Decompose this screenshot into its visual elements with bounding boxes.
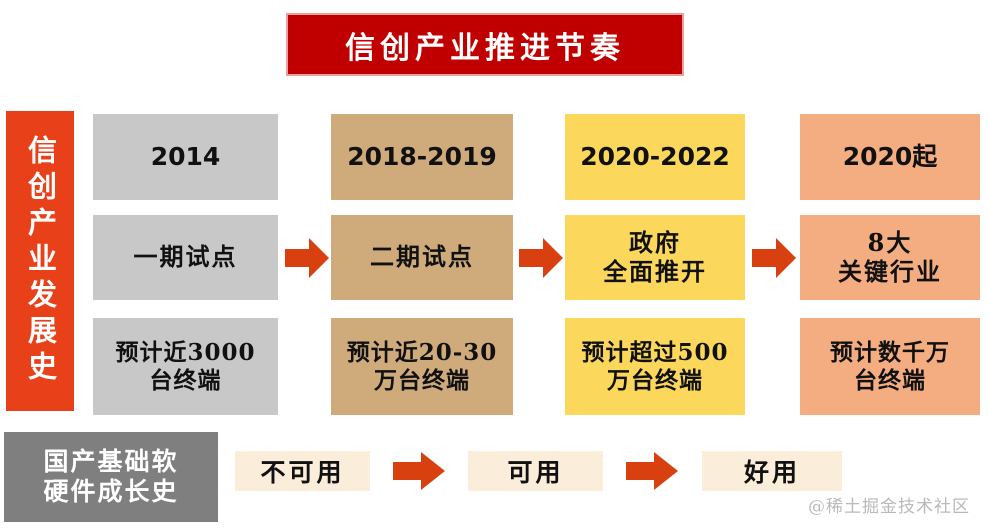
timeline-card-scale-2: 预计近20-30 万台终端 xyxy=(331,318,513,415)
timeline-card-scale-3: 预计超过500 万台终端 xyxy=(565,318,745,415)
timeline-card-year-2: 2018-2019 xyxy=(331,114,513,200)
timeline-card-year-1: 2014 xyxy=(93,114,278,200)
phase-label: 一期试点 xyxy=(134,243,238,271)
domestic-software-history-label: 国产基础软 硬件成长史 xyxy=(4,432,218,522)
year-label: 2020-2022 xyxy=(580,142,730,172)
right-arrow-icon xyxy=(752,237,796,279)
phase-label: 政府 全面推开 xyxy=(603,229,707,286)
watermark: @稀土掘金技术社区 xyxy=(808,492,970,517)
right-arrow-icon xyxy=(626,451,678,491)
scale-label: 预计数千万 台终端 xyxy=(830,339,950,393)
bottom-label-text: 国产基础软 硬件成长史 xyxy=(43,447,178,508)
page-title: 信创产业推进节奏 xyxy=(345,23,625,67)
maturity-stage-label: 好用 xyxy=(744,453,800,489)
timeline-card-scale-4: 预计数千万 台终端 xyxy=(800,318,980,415)
maturity-stage-usable: 可用 xyxy=(468,451,603,491)
year-label: 2014 xyxy=(151,142,221,172)
maturity-stage-unusable: 不可用 xyxy=(235,451,370,491)
scale-label: 预计近20-30 万台终端 xyxy=(347,339,498,393)
industry-history-side-label: 信创产业发展史 xyxy=(6,111,74,411)
scale-label: 预计超过500 万台终端 xyxy=(581,339,728,393)
timeline-card-phase-4: 8大 关键行业 xyxy=(800,215,980,300)
timeline-card-scale-1: 预计近3000 台终端 xyxy=(93,318,278,415)
timeline-card-phase-1: 一期试点 xyxy=(93,215,278,300)
page-title-banner: 信创产业推进节奏 xyxy=(286,13,684,76)
year-label: 2018-2019 xyxy=(347,142,497,172)
right-arrow-icon xyxy=(393,451,445,491)
timeline-card-year-3: 2020-2022 xyxy=(565,114,745,200)
phase-label: 8大 关键行业 xyxy=(838,229,942,286)
timeline-card-phase-3: 政府 全面推开 xyxy=(565,215,745,300)
phase-label: 二期试点 xyxy=(370,243,474,271)
timeline-card-year-4: 2020起 xyxy=(800,114,980,200)
scale-label: 预计近3000 台终端 xyxy=(115,339,255,393)
right-arrow-icon xyxy=(285,237,329,279)
maturity-stage-label: 不可用 xyxy=(260,453,344,489)
timeline-card-phase-2: 二期试点 xyxy=(331,215,513,300)
right-arrow-icon xyxy=(519,237,563,279)
year-label: 2020起 xyxy=(843,142,938,172)
maturity-stage-label: 可用 xyxy=(507,453,563,489)
maturity-stage-good: 好用 xyxy=(702,451,842,491)
side-label-text: 信创产业发展史 xyxy=(26,135,55,387)
